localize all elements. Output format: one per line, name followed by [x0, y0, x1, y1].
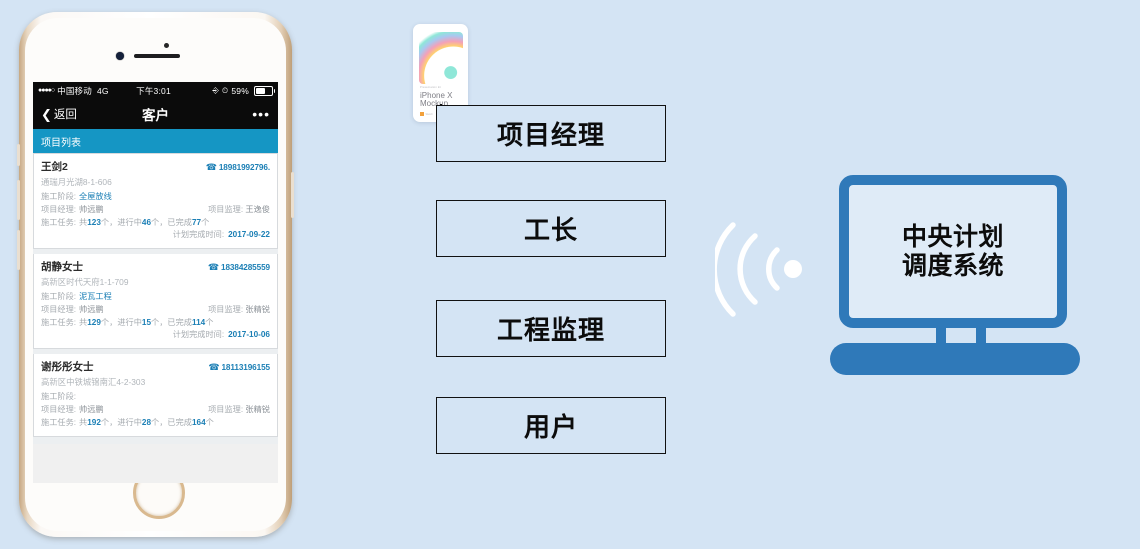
tasks-label: 施工任务: [41, 317, 76, 330]
volume-up-button[interactable] [17, 180, 20, 220]
completed-count: 114 [192, 317, 205, 330]
role-label: 工程监理 [497, 310, 605, 347]
customer-address: 高新区中铁城锦南汇4-2-303 [41, 376, 270, 388]
completed-unit: 个 [205, 317, 213, 330]
section-header-label: 项目列表 [41, 134, 81, 149]
project-list[interactable]: 王剑2 ☎18981992796. 通瑞月光湖8-1-606 施工阶段: 全屋放… [33, 153, 278, 444]
completed-prefix: 已完成 [167, 417, 192, 430]
wifi-signal-icon [715, 222, 815, 317]
sep-2: ， [159, 417, 167, 430]
status-bar: ●●●●○ 中国移动 4G 下午3:01 ⎆ ⏲ 59% [33, 82, 278, 99]
tasks-row: 施工任务: 共123个，进行中46个，已完成77个 [41, 217, 270, 230]
tasks-label: 施工任务: [41, 217, 76, 230]
rotation-lock-icon: ⎆ [212, 86, 219, 96]
inprogress-unit: 个 [151, 417, 159, 430]
completed-count: 164 [192, 417, 206, 430]
supervisor-value: 王逸俊 [245, 205, 270, 214]
stage-value: 全屋放线 [79, 191, 112, 204]
silent-switch[interactable] [17, 144, 20, 166]
inprogress-prefix: 进行中 [117, 317, 142, 330]
legend-item-sketch: Sketch [420, 112, 433, 116]
proximity-sensor-icon [164, 43, 169, 48]
completed-prefix: 已完成 [167, 217, 192, 230]
power-button[interactable] [291, 172, 294, 218]
carrier-label: 中国移动 [57, 85, 92, 97]
customer-address: 高新区时代天府1-1-709 [41, 276, 270, 288]
stage-label: 施工阶段: [41, 191, 76, 204]
front-camera-icon [116, 52, 124, 60]
status-bar-right: ⎆ ⏲ 59% [212, 86, 273, 96]
monitor-text-line2: 调度系统 [902, 252, 1004, 281]
plan-date: 2017-10-06 [228, 329, 270, 342]
clock-label: 下午3:01 [109, 85, 213, 97]
plan-date: 2017-09-22 [228, 229, 270, 242]
customer-phone[interactable]: ☎18384285559 [208, 261, 270, 275]
completed-count: 77 [192, 217, 201, 230]
signal-strength-icon: ●●●●○ [38, 87, 54, 94]
supervisor-label: 项目监理: [208, 305, 243, 314]
phone-icon: ☎ [208, 262, 219, 272]
role-label: 项目经理 [497, 115, 605, 152]
supervisor-pair: 项目监理: 张精锐 [208, 404, 270, 417]
tasks-row: 施工任务: 共129个，进行中15个，已完成114个 [41, 317, 270, 330]
total-prefix: 共 [79, 317, 87, 330]
monitor-text-line1: 中央计划 [902, 223, 1004, 252]
manager-row: 项目经理: 帅远鹏 项目监理: 张精锐 [41, 404, 270, 417]
manager-value: 帅远鹏 [79, 304, 104, 317]
inprogress-prefix: 进行中 [117, 417, 142, 430]
sep-1: ， [109, 217, 117, 230]
inprogress-count: 28 [142, 417, 151, 430]
manager-label: 项目经理: [41, 304, 76, 317]
plan-label: 计划完成时间: [173, 229, 224, 242]
completed-unit: 个 [206, 417, 214, 430]
sep-2: ， [159, 217, 167, 230]
total-prefix: 共 [79, 217, 87, 230]
phone-icon: ☎ [208, 362, 219, 372]
customer-address: 通瑞月光湖8-1-606 [41, 176, 270, 188]
stage-label: 施工阶段: [41, 291, 76, 304]
stage-row: 施工阶段: 泥瓦工程 [41, 291, 270, 304]
inprogress-count: 15 [142, 317, 151, 330]
manager-row: 项目经理: 帅远鹏 项目监理: 王逸俊 [41, 204, 270, 217]
supervisor-label: 项目监理: [208, 205, 243, 214]
volume-down-button[interactable] [17, 230, 20, 270]
customer-header: 胡静女士 ☎18384285559 [41, 259, 270, 275]
total-count: 123 [87, 217, 101, 230]
customer-name: 胡静女士 [41, 259, 83, 275]
total-unit: 个 [101, 417, 109, 430]
nav-bar: ❮ 返回 客户 ••• [33, 99, 278, 129]
alarm-icon: ⏲ [222, 86, 228, 96]
customer-name: 谢彤彤女士 [41, 359, 94, 375]
inprogress-count: 46 [142, 217, 151, 230]
sep-2: ， [159, 317, 167, 330]
supervisor-label: 项目监理: [208, 405, 243, 414]
role-project-manager[interactable]: 项目经理 [436, 105, 666, 162]
total-unit: 个 [101, 317, 109, 330]
supervisor-value: 张精锐 [245, 305, 270, 314]
customer-header: 谢彤彤女士 ☎18113196155 [41, 359, 270, 375]
central-system-monitor: 中央计划 调度系统 [830, 175, 1080, 375]
sketch-swatch-icon [420, 112, 424, 116]
sep-1: ， [109, 317, 117, 330]
phone-icon: ☎ [206, 162, 217, 172]
list-item[interactable]: 谢彤彤女士 ☎18113196155 高新区中铁城锦南汇4-2-303 施工阶段… [33, 354, 278, 436]
manager-row: 项目经理: 帅远鹏 项目监理: 张精锐 [41, 304, 270, 317]
role-label: 工长 [524, 210, 578, 247]
earpiece-speaker-icon [134, 54, 180, 58]
tasks-row: 施工任务: 共192个，进行中28个，已完成164个 [41, 417, 270, 430]
role-label: 用户 [524, 407, 578, 444]
total-count: 129 [87, 317, 101, 330]
inprogress-prefix: 进行中 [117, 217, 142, 230]
tasks-label: 施工任务: [41, 417, 76, 430]
monitor-text: 中央计划 调度系统 [902, 223, 1004, 280]
customer-phone[interactable]: ☎18981992796. [206, 161, 270, 175]
iphone-device: ●●●●○ 中国移动 4G 下午3:01 ⎆ ⏲ 59% ❮ 返回 客户 ••• [19, 12, 292, 537]
sep-1: ， [109, 417, 117, 430]
diagram-canvas: ●●●●○ 中国移动 4G 下午3:01 ⎆ ⏲ 59% ❮ 返回 客户 ••• [0, 0, 1140, 549]
supervisor-pair: 项目监理: 王逸俊 [208, 204, 270, 217]
back-label: 返回 [54, 106, 77, 122]
manager-label: 项目经理: [41, 204, 76, 217]
battery-icon [254, 86, 273, 96]
mockup-subtitle: Presentation kit [420, 86, 441, 89]
network-type-label: 4G [97, 86, 109, 96]
battery-percent-label: 59% [231, 86, 249, 96]
list-item[interactable]: 王剑2 ☎18981992796. 通瑞月光湖8-1-606 施工阶段: 全屋放… [33, 153, 278, 249]
total-unit: 个 [101, 217, 109, 230]
completed-unit: 个 [201, 217, 209, 230]
supervisor-pair: 项目监理: 张精锐 [208, 304, 270, 317]
customer-name: 王剑2 [41, 159, 68, 175]
total-prefix: 共 [79, 417, 87, 430]
role-foreman[interactable]: 工长 [436, 200, 666, 257]
gradient-artwork-icon [419, 32, 463, 84]
manager-label: 项目经理: [41, 404, 76, 417]
legend-label-sketch: Sketch [426, 113, 433, 116]
inprogress-unit: 个 [151, 217, 159, 230]
role-user[interactable]: 用户 [436, 397, 666, 454]
customer-header: 王剑2 ☎18981992796. [41, 159, 270, 175]
stage-label: 施工阶段: [41, 391, 76, 404]
more-options-button[interactable]: ••• [252, 107, 270, 121]
stage-row: 施工阶段: 全屋放线 [41, 191, 270, 204]
customer-phone[interactable]: ☎18113196155 [208, 361, 270, 375]
completed-prefix: 已完成 [167, 317, 192, 330]
phone-screen: ●●●●○ 中国移动 4G 下午3:01 ⎆ ⏲ 59% ❮ 返回 客户 ••• [33, 82, 278, 483]
inprogress-unit: 个 [151, 317, 159, 330]
supervisor-value: 张精锐 [245, 405, 270, 414]
manager-value: 帅远鹏 [79, 204, 104, 217]
stage-row: 施工阶段: [41, 391, 270, 404]
monitor-base [830, 343, 1080, 375]
stage-value: 泥瓦工程 [79, 291, 112, 304]
plan-row: 计划完成时间: 2017-09-22 [41, 229, 270, 242]
list-item[interactable]: 胡静女士 ☎18384285559 高新区时代天府1-1-709 施工阶段: 泥… [33, 254, 278, 349]
plan-row: 计划完成时间: 2017-10-06 [41, 329, 270, 342]
role-engineering-supervisor[interactable]: 工程监理 [436, 300, 666, 357]
total-count: 192 [87, 417, 101, 430]
manager-value: 帅远鹏 [79, 404, 104, 417]
monitor-screen: 中央计划 调度系统 [839, 175, 1067, 328]
plan-label: 计划完成时间: [173, 329, 224, 342]
chevron-left-icon: ❮ [41, 108, 52, 121]
section-header: 项目列表 [33, 129, 278, 153]
back-button[interactable]: ❮ 返回 [41, 106, 77, 122]
